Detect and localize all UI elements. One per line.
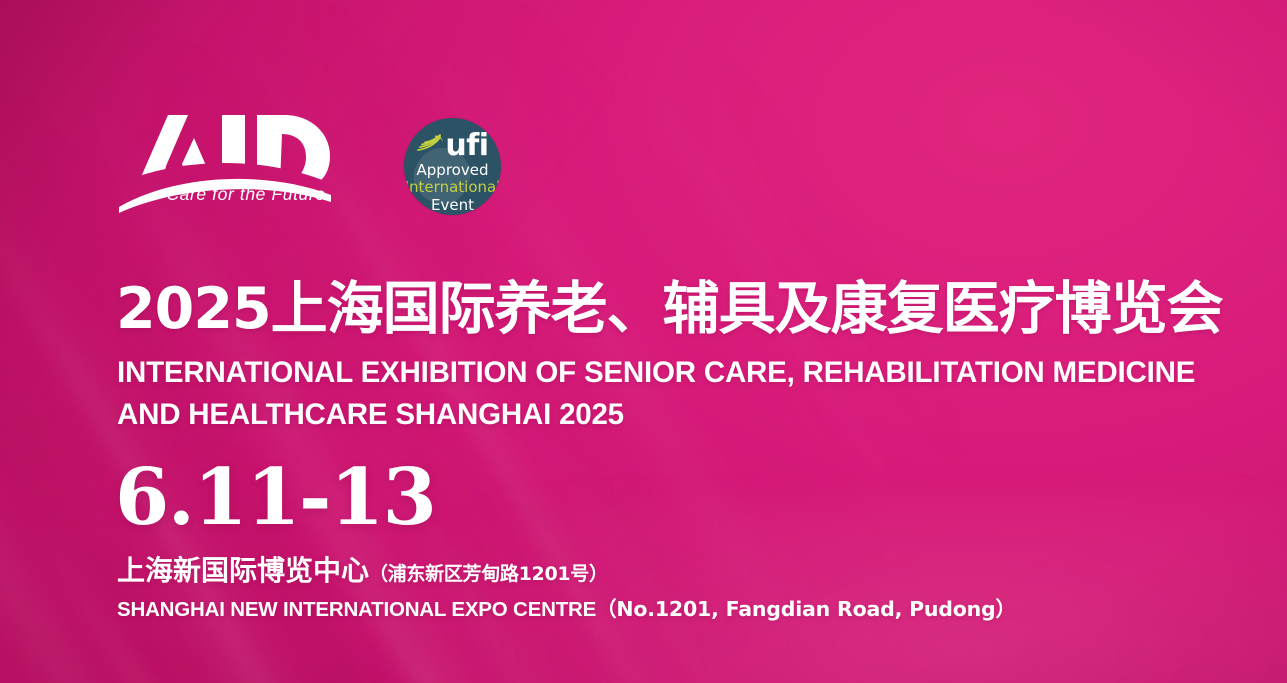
venue-chinese-name: 上海新国际博览中心 xyxy=(117,554,369,587)
ufi-approved-badge: ufi Approved International Event xyxy=(404,118,501,215)
aid-logo: Care for the Future xyxy=(118,112,332,216)
title-english: INTERNATIONAL EXHIBITION OF SENIOR CARE,… xyxy=(117,352,1195,436)
ufi-leaf-swoosh-icon xyxy=(416,134,444,154)
ufi-line-event: Event xyxy=(404,197,501,215)
venue-chinese: 上海新国际博览中心（浦东新区芳甸路1201号） xyxy=(117,549,608,589)
ufi-line-approved: Approved xyxy=(404,162,501,180)
venue-chinese-address: （浦东新区芳甸路1201号） xyxy=(369,563,608,585)
title-english-line-1: INTERNATIONAL EXHIBITION OF SENIOR CARE,… xyxy=(117,352,1195,394)
venue-english-address: （No.1201, Fangdian Road, Pudong） xyxy=(596,597,1016,621)
ufi-top-row: ufi xyxy=(404,134,501,159)
ufi-text-lines: Approved International Event xyxy=(404,162,501,215)
event-poster: Care for the Future ufi xyxy=(0,0,1287,683)
aid-tagline: Care for the Future xyxy=(151,184,341,205)
title-chinese: 2025上海国际养老、辅具及康复医疗博览会 xyxy=(116,263,1223,345)
ufi-line-international: International xyxy=(404,179,501,197)
ufi-wordmark: ufi xyxy=(445,134,488,159)
event-date: 6.11-13 xyxy=(115,452,435,543)
logo-row: Care for the Future ufi xyxy=(118,112,501,216)
title-english-line-2: AND HEALTHCARE SHANGHAI 2025 xyxy=(117,394,1195,436)
poster-content: Care for the Future ufi xyxy=(0,0,1287,683)
venue-english-name: SHANGHAI NEW INTERNATIONAL EXPO CENTRE xyxy=(117,598,596,621)
venue-english: SHANGHAI NEW INTERNATIONAL EXPO CENTRE（N… xyxy=(117,592,1016,622)
